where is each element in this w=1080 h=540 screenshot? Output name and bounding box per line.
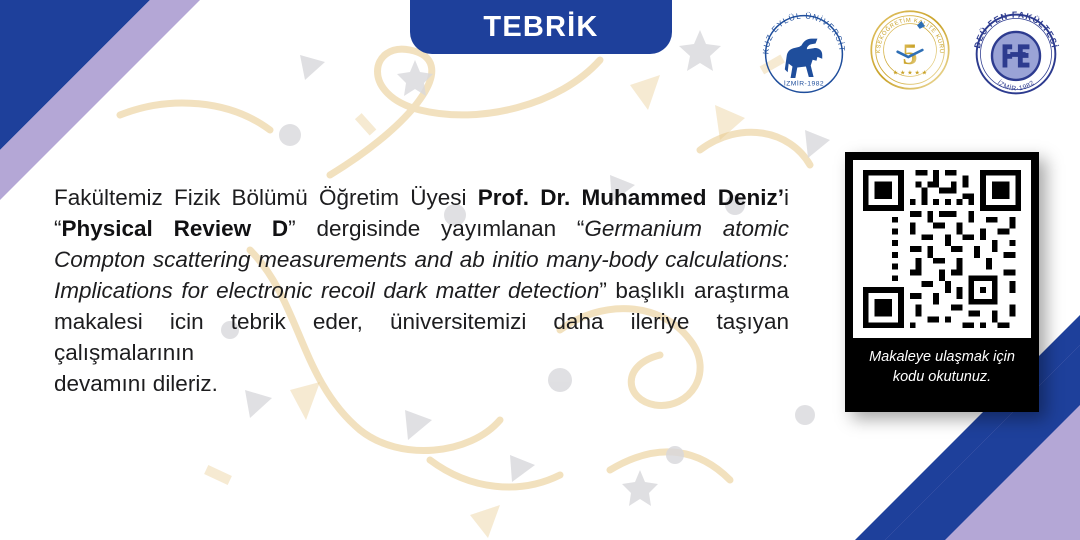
deu-fen-fakultesi-logo: DEÜ FEN FAKÜLTESİ İZMİR·1982 [968,6,1064,102]
text-segment: ” dergisinde yayımlanan [288,216,577,241]
announcement-paragraph: Fakültemiz Fizik Bölümü Öğretim Üyesi Pr… [54,182,789,399]
poster-canvas: TEBRİK DOKUZ EYLÜL ÜNİVERSİTESİ İZMİR-19… [0,0,1080,540]
kalite-akreditasyon-seal: YÜKSEKÖĞRETİM KALİTE KURULU 5 ★ ★ ★ ★ ★ [866,6,954,94]
qr-caption-line1: Makaleye ulaşmak için [869,349,1015,365]
text-segment: i [784,185,789,210]
qr-caption: Makaleye ulaşmak için kodu okutunuz. [859,347,1025,387]
text-segment-bold: Prof. Dr. Muhammed Deniz’ [478,185,784,210]
qr-caption-line2: kodu okutunuz. [893,369,991,385]
banner-title: TEBRİK [483,11,598,44]
quote-open: “ [54,216,62,241]
qr-card[interactable]: Makaleye ulaşmak için kodu okutunuz. [845,152,1039,412]
svg-text:İZMİR-1982: İZMİR-1982 [784,79,824,88]
qr-code[interactable] [853,160,1031,338]
closing-line: devamını dileriz. [54,368,789,399]
logo-row: DOKUZ EYLÜL ÜNİVERSİTESİ İZMİR-1982 [756,6,1064,102]
dokuz-eylul-universitesi-logo: DOKUZ EYLÜL ÜNİVERSİTESİ İZMİR-1982 [756,6,852,102]
svg-text:★ ★ ★ ★ ★: ★ ★ ★ ★ ★ [893,70,927,77]
text-segment: Fakültemiz Fizik Bölümü Öğretim Üyesi [54,185,478,210]
tebrik-banner: TEBRİK [410,0,672,54]
journal-name: Physical Review D [62,216,289,241]
